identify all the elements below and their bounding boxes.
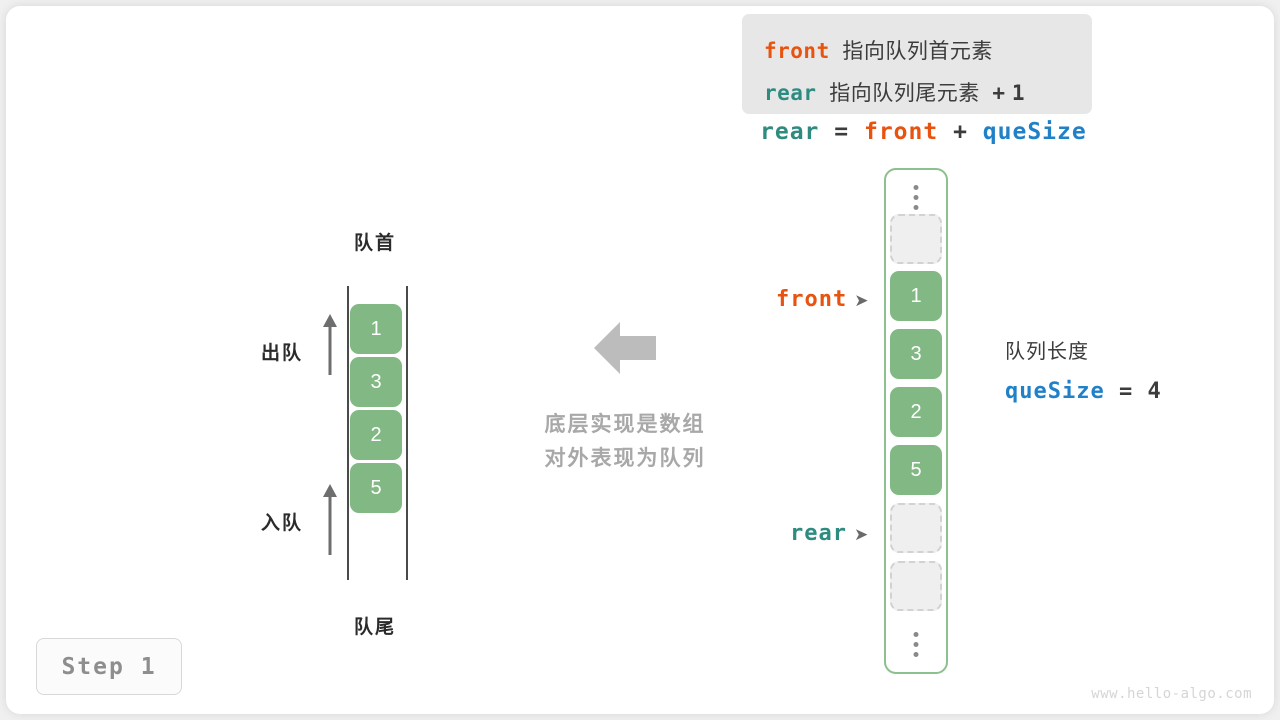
legend-line-front: front 指向队列首元素 <box>764 41 993 62</box>
formula-plus: + <box>953 119 968 145</box>
rear-pointer-marker-icon: ➤ <box>854 525 869 544</box>
array-slot: 1 <box>890 271 942 321</box>
watermark: www.hello-algo.com <box>1091 686 1252 702</box>
queue-rail-right <box>406 286 408 580</box>
queue-rail-left <box>347 286 349 580</box>
diagram-canvas: front 指向队列首元素 rear 指向队列尾元素 + 1 rear = fr… <box>0 0 1280 720</box>
queue-size-title: 队列长度 <box>1005 342 1162 362</box>
array-slot: 5 <box>890 445 942 495</box>
array-container: 1 3 2 5 <box>884 168 948 674</box>
legend-front-token: front <box>764 39 830 63</box>
dequeue-label: 出队 <box>252 338 312 365</box>
array-slot <box>890 561 942 611</box>
legend-rear-token: rear <box>764 81 817 105</box>
formula-lhs: rear <box>760 119 819 145</box>
rear-pointer-label: rear➤ <box>790 522 869 546</box>
array-top-ellipsis-icon <box>914 185 919 210</box>
legend-box: front 指向队列首元素 rear 指向队列尾元素 + 1 <box>742 14 1092 114</box>
center-caption-line1: 底层实现是数组 <box>505 408 745 442</box>
front-pointer-label: front➤ <box>776 288 869 312</box>
enqueue-arrow-up-icon <box>318 483 342 555</box>
legend-rear-plus: + <box>992 81 1005 105</box>
queue-size-var: queSize <box>1005 379 1105 404</box>
legend-line-rear: rear 指向队列尾元素 + 1 <box>764 83 1025 104</box>
arrow-left-icon <box>594 318 656 378</box>
queue-size-expression: queSize = 4 <box>1005 380 1162 403</box>
legend-front-desc: 指向队列首元素 <box>842 40 993 63</box>
dequeue-arrow-up-icon <box>318 313 342 375</box>
formula-operand-quesize: queSize <box>983 119 1087 145</box>
legend-rear-num: 1 <box>1012 81 1025 105</box>
array-slot <box>890 214 942 264</box>
formula-line: rear = front + queSize <box>760 120 1087 144</box>
array-slot: 2 <box>890 387 942 437</box>
queue-cell: 5 <box>350 463 402 513</box>
queue-cell: 3 <box>350 357 402 407</box>
rear-pointer-text: rear <box>790 521 847 546</box>
center-caption: 底层实现是数组 对外表现为队列 <box>505 408 745 476</box>
center-caption-line2: 对外表现为队列 <box>505 442 745 476</box>
queue-cell: 2 <box>350 410 402 460</box>
queue-size-value: 4 <box>1147 379 1161 404</box>
queue-size-equals: = <box>1119 379 1133 404</box>
queue-head-label: 队首 <box>343 228 407 255</box>
queue-tail-label: 队尾 <box>343 612 407 639</box>
queue-size-note: 队列长度 queSize = 4 <box>1005 342 1162 403</box>
array-slot: 3 <box>890 329 942 379</box>
legend-rear-desc: 指向队列尾元素 <box>829 82 980 105</box>
front-pointer-text: front <box>776 287 847 312</box>
formula-operand-front: front <box>864 119 938 145</box>
array-bottom-ellipsis-icon <box>914 632 919 657</box>
enqueue-label: 入队 <box>252 508 312 535</box>
array-slot <box>890 503 942 553</box>
step-badge: Step 1 <box>36 638 182 695</box>
formula-equals: = <box>834 119 849 145</box>
queue-cell: 1 <box>350 304 402 354</box>
front-pointer-marker-icon: ➤ <box>854 291 869 310</box>
